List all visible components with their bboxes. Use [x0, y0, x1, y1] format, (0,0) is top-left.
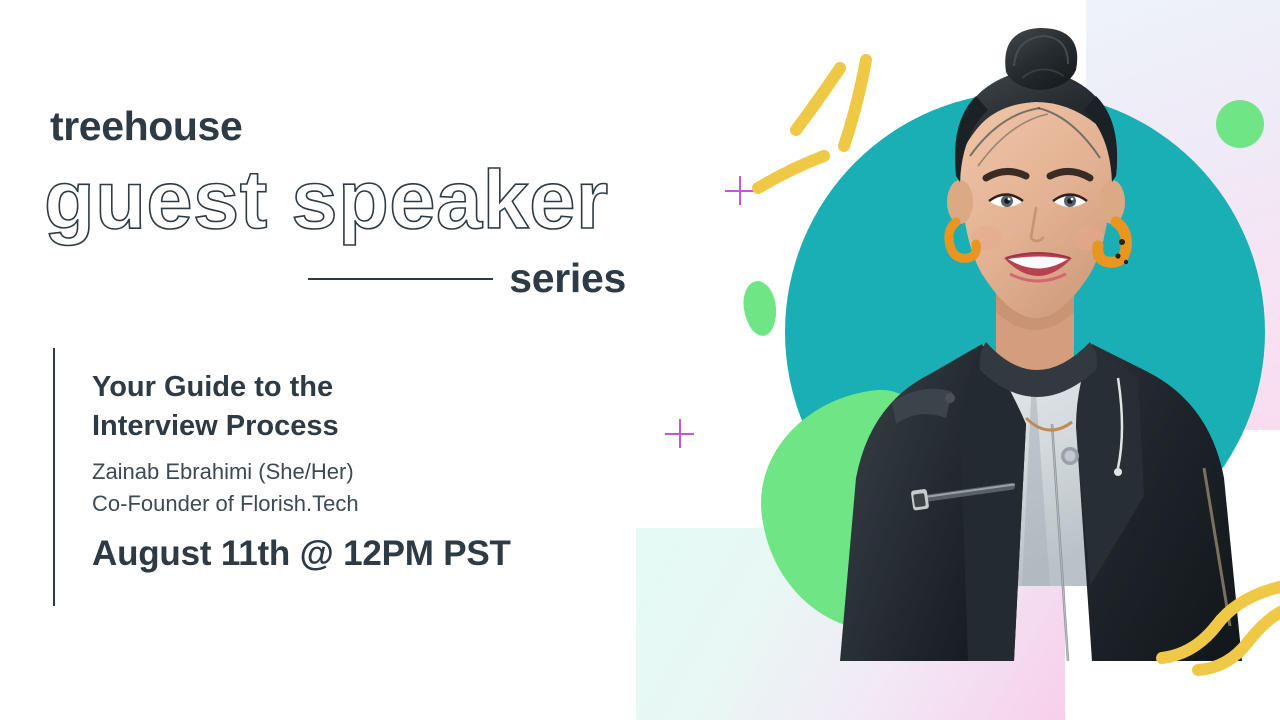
- vertical-accent-rule: [53, 348, 55, 606]
- event-datetime: August 11th @ 12PM PST: [92, 534, 622, 574]
- promo-slide: treehouse guest speaker series Your Guid…: [0, 0, 1280, 720]
- speaker-name: Zainab Ebrahimi (She/Her): [92, 456, 622, 488]
- headline-guest-speaker: guest speaker: [44, 158, 609, 241]
- brand-wordmark: treehouse: [50, 106, 242, 147]
- speaker-portrait: [800, 26, 1270, 661]
- session-title-line-1: Your Guide to the: [92, 371, 333, 403]
- magenta-plus-icon-lower: [665, 419, 694, 448]
- speaker-role: Co-Founder of Florish.Tech: [92, 488, 622, 520]
- green-pill-shape: [740, 279, 779, 338]
- series-label: series: [509, 258, 626, 299]
- session-title: Your Guide to the Interview Process: [92, 368, 622, 446]
- magenta-plus-icon-upper: [725, 176, 754, 205]
- session-info: Your Guide to the Interview Process Zain…: [92, 368, 622, 574]
- text-column: treehouse guest speaker series Your Guid…: [0, 0, 660, 720]
- series-divider-rule: [308, 278, 493, 280]
- session-title-line-2: Interview Process: [92, 410, 339, 442]
- series-row: series: [308, 258, 626, 299]
